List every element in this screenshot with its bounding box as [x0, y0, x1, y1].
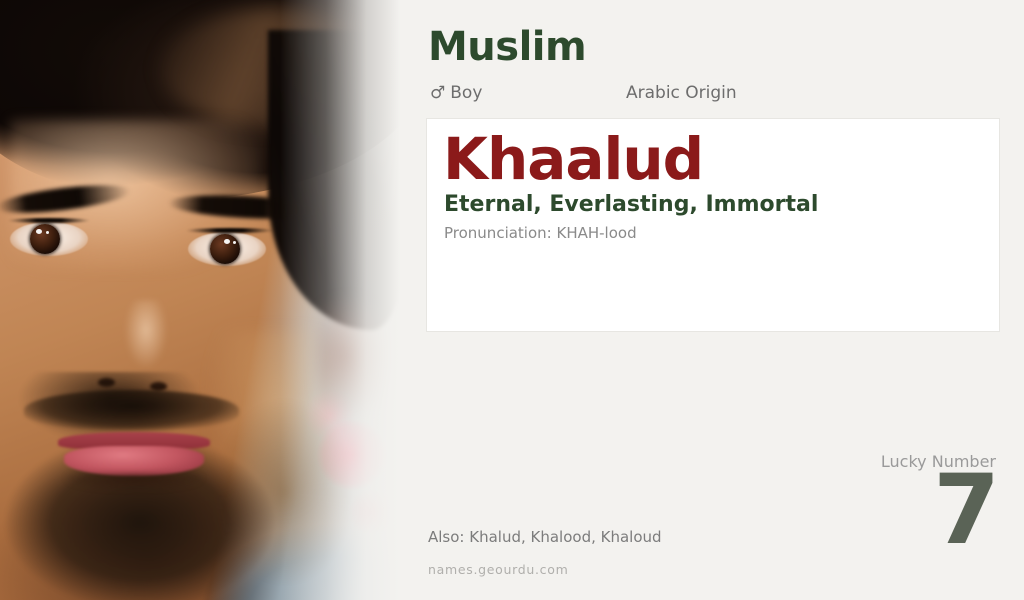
- alternate-spellings: Also: Khalud, Khalood, Khaloud: [428, 528, 662, 546]
- lower-lip: [64, 446, 204, 476]
- lucky-number-value: 7: [933, 462, 1000, 558]
- gender-info: ♂Boy: [430, 83, 482, 103]
- name-detail-card: Khaalud Eternal, Everlasting, Immortal P…: [426, 118, 1000, 332]
- iris-left: [30, 224, 60, 254]
- name-pronunciation: Pronunciation: KHAH-lood: [444, 224, 637, 242]
- eyelash-right: [186, 228, 274, 233]
- eye-glint-right-1: [224, 239, 230, 244]
- eye-glint-right-2: [233, 241, 236, 244]
- meta-row: ♂Boy Arabic Origin: [430, 83, 990, 105]
- name-heading: Khaalud: [443, 125, 703, 193]
- mustache-region: [24, 390, 239, 430]
- eye-glint-left-2: [46, 231, 49, 234]
- male-symbol-icon: ♂: [430, 83, 445, 103]
- portrait-photo: [0, 0, 400, 600]
- gender-label: Boy: [450, 83, 482, 103]
- source-website: names.geourdu.com: [428, 562, 568, 577]
- name-meaning: Eternal, Everlasting, Immortal: [444, 192, 818, 217]
- eyelash-left: [8, 218, 90, 223]
- page-title: Muslim: [428, 24, 586, 70]
- mouth-shadow: [66, 474, 202, 490]
- origin-label: Arabic Origin: [626, 83, 737, 103]
- eye-glint-left-1: [36, 229, 42, 234]
- photo-fade-overlay: [280, 0, 400, 600]
- name-info-card: Muslim ♂Boy Arabic Origin Khaalud Eterna…: [0, 0, 1024, 600]
